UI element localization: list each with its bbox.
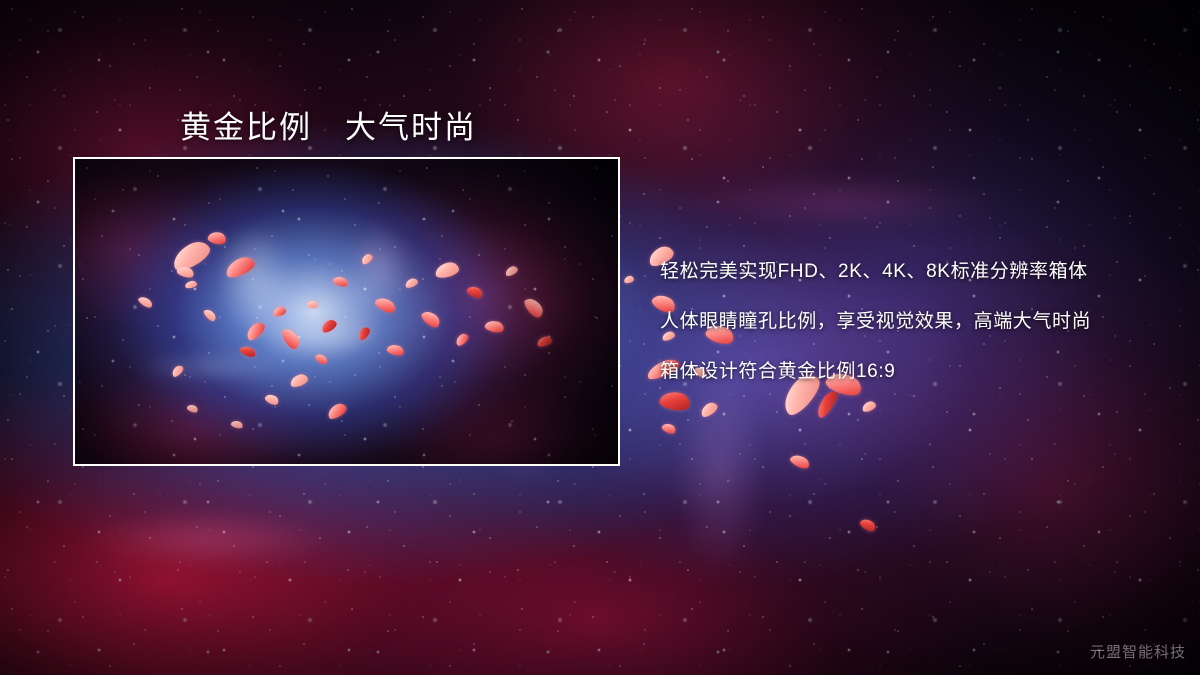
body-text-block: 轻松完美实现FHD、2K、4K、8K标准分辨率箱体 人体眼睛瞳孔比例，享受视觉效…: [660, 256, 1180, 406]
body-line-3: 箱体设计符合黄金比例16:9: [660, 356, 1180, 383]
page-title: 黄金比例 大气时尚: [180, 102, 477, 147]
body-line-1: 轻松完美实现FHD、2K、4K、8K标准分辨率箱体: [660, 256, 1180, 283]
body-line-2: 人体眼睛瞳孔比例，享受视觉效果，高端大气时尚: [660, 306, 1180, 333]
watermark: 元盟智能科技: [1090, 641, 1186, 662]
petal: [859, 516, 878, 533]
galaxy-petals-image-panel[interactable]: [73, 157, 620, 466]
petal: [661, 421, 678, 436]
petal: [789, 452, 812, 471]
panel-vignette: [75, 159, 618, 464]
presentation-slide: 黄金比例 大气时尚 轻松完美实现FHD、2K、4K、8K标准分辨率箱体 人体眼睛…: [0, 0, 1200, 675]
petal: [623, 275, 634, 284]
